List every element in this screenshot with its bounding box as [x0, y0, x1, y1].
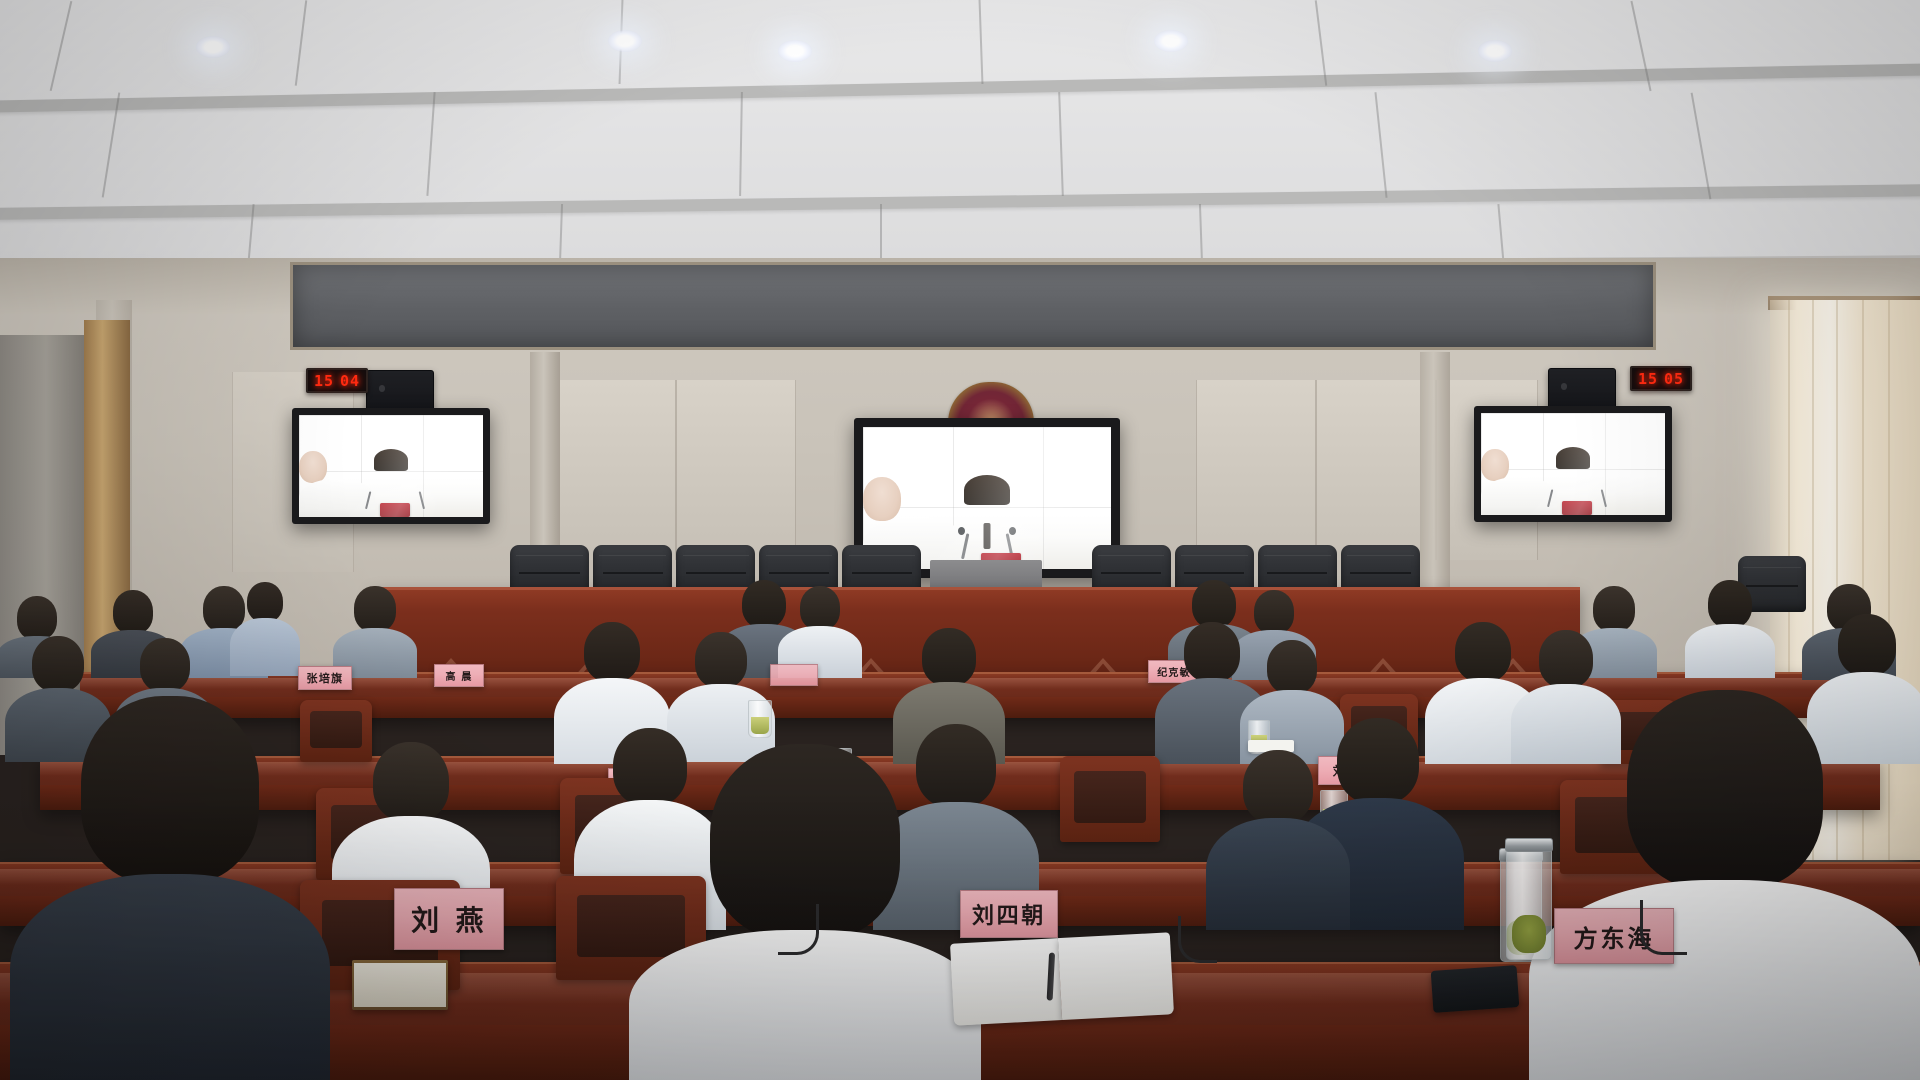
attendee — [336, 586, 414, 676]
brown-book — [352, 960, 448, 1010]
led-clock-right: 15 05 — [1630, 366, 1692, 391]
conference-room-scene: 15 04 15 05 — [0, 0, 1920, 1080]
attendee — [782, 586, 858, 676]
led-clock-right-minutes: 05 — [1664, 370, 1684, 388]
wall-display-header-beam — [290, 262, 1656, 350]
left-monitor-surface — [299, 415, 483, 517]
attendee — [232, 582, 298, 676]
left-wall-monitor[interactable] — [292, 408, 490, 524]
black-tablet[interactable] — [1431, 965, 1520, 1013]
ceiling-downlight — [608, 30, 642, 52]
wall-pillar — [1420, 352, 1450, 602]
microphone-gooseneck — [778, 904, 819, 955]
ceiling-beam — [0, 60, 1920, 116]
video-feed-right — [1481, 413, 1665, 515]
placard-liu-yan: 刘 燕 — [394, 888, 504, 950]
paper-cup — [748, 700, 772, 738]
ceiling-downlight — [196, 36, 230, 58]
right-wall-monitor[interactable] — [1474, 406, 1672, 522]
ceiling-downlight — [1478, 40, 1512, 62]
wall-panel — [1196, 380, 1316, 560]
wall-panel — [1316, 380, 1436, 560]
video-feed-left — [299, 415, 483, 517]
microphone-gooseneck — [1640, 900, 1687, 955]
wall-panel — [676, 380, 796, 560]
ceiling-downlight — [778, 40, 812, 62]
ceiling — [0, 0, 1920, 300]
placard-zhang-peiqi: 张培旗 — [298, 666, 352, 690]
led-clock-left: 15 04 — [306, 368, 368, 393]
attendee — [1212, 750, 1344, 928]
wall-panel — [556, 380, 676, 560]
audience-chair[interactable] — [1060, 756, 1160, 842]
glass-thermos — [1506, 846, 1552, 960]
attendee-foreground-right — [1540, 690, 1910, 1080]
ceiling-beam — [0, 182, 1920, 222]
ceiling-downlight — [1154, 30, 1188, 52]
placard-gao-chen: 高 晨 — [434, 664, 484, 687]
microphone-gooseneck — [1178, 916, 1217, 963]
led-clock-left-hours: 15 — [314, 372, 334, 390]
led-clock-left-minutes: 04 — [340, 372, 360, 390]
open-notebook — [950, 932, 1174, 1025]
right-monitor-surface — [1481, 413, 1665, 515]
led-clock-right-hours: 15 — [1638, 370, 1658, 388]
attendee-foreground-left — [20, 696, 320, 1080]
attendee — [1688, 580, 1772, 676]
placard-row4-extra — [770, 664, 818, 686]
placard-liu-sichao: 刘四朝 — [960, 890, 1058, 938]
